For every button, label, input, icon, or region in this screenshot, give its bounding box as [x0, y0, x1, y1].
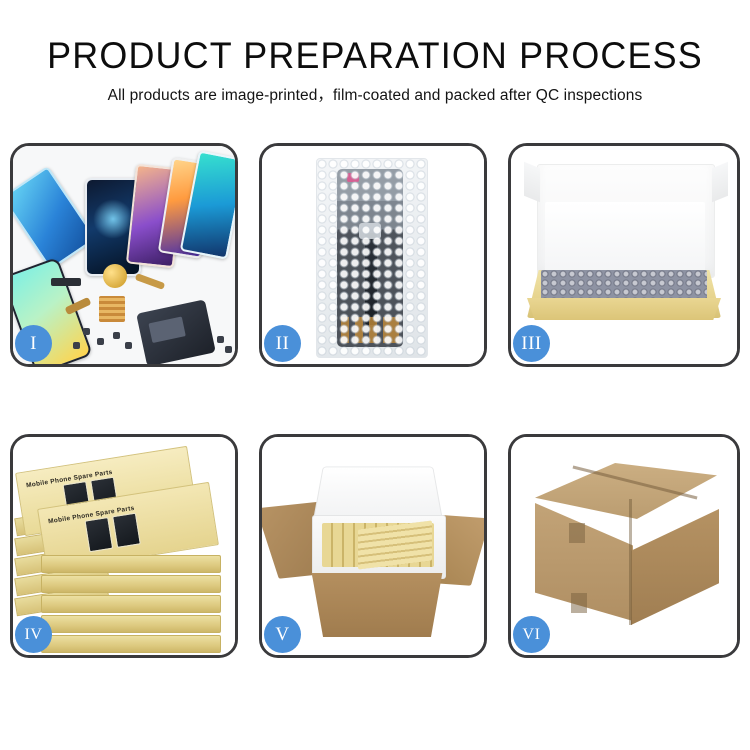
step-panel-2: II — [259, 143, 487, 367]
step-panel-1: I — [10, 143, 238, 367]
carton-body — [306, 573, 448, 637]
step-panel-6: VI — [508, 434, 740, 658]
bubble-wrap-fill — [541, 270, 707, 300]
carton-vertical-edge — [629, 499, 632, 625]
stack-box-3 — [41, 555, 221, 573]
step-panel-5: V — [259, 434, 487, 658]
box-print-screen-2b — [112, 513, 141, 548]
carton-right-face — [631, 509, 719, 625]
stack-box-4 — [41, 575, 221, 593]
stack-box-5 — [41, 595, 221, 613]
small-part-5 — [73, 342, 80, 349]
carton-top-face — [535, 463, 717, 519]
small-part-3 — [113, 332, 120, 339]
coil-component — [103, 264, 127, 288]
steps-grid: I II — [10, 143, 740, 658]
stack-box-7 — [41, 635, 221, 653]
step-badge-3: III — [513, 325, 550, 362]
step-badge-2: II — [264, 325, 301, 362]
small-part-4 — [125, 342, 132, 349]
small-part-2 — [97, 338, 104, 345]
step-panel-4: Mobile Phone Spare Parts Mobile Phone Sp… — [10, 434, 238, 658]
flex-cable-2 — [135, 273, 166, 290]
carton-tab-upper — [569, 523, 585, 543]
small-part-7 — [225, 346, 232, 353]
bubble-wrap-bag — [316, 158, 428, 358]
kraft-tray-front — [527, 298, 721, 320]
foam-sheet — [545, 202, 705, 274]
speaker-component — [51, 278, 81, 286]
logic-board — [136, 299, 216, 364]
page-subtitle: All products are image-printed，film-coat… — [0, 76, 750, 105]
box-print-screen-2a — [84, 517, 113, 552]
chip-component — [99, 296, 125, 322]
step-badge-4: IV — [15, 616, 52, 653]
step-badge-5: V — [264, 616, 301, 653]
step-badge-1: I — [15, 325, 52, 362]
step-badge-6: VI — [513, 616, 550, 653]
bubble-texture — [317, 159, 427, 357]
carton-tab-lower — [571, 593, 587, 613]
small-part-6 — [217, 336, 224, 343]
box-print-specs-2 — [148, 492, 206, 544]
header: PRODUCT PREPARATION PROCESS All products… — [0, 0, 750, 105]
product-preparation-infographic: PRODUCT PREPARATION PROCESS All products… — [0, 0, 750, 750]
stack-box-6 — [41, 615, 221, 633]
page-title: PRODUCT PREPARATION PROCESS — [11, 0, 739, 76]
step-panel-3: III — [508, 143, 740, 367]
small-part-1 — [83, 328, 90, 335]
